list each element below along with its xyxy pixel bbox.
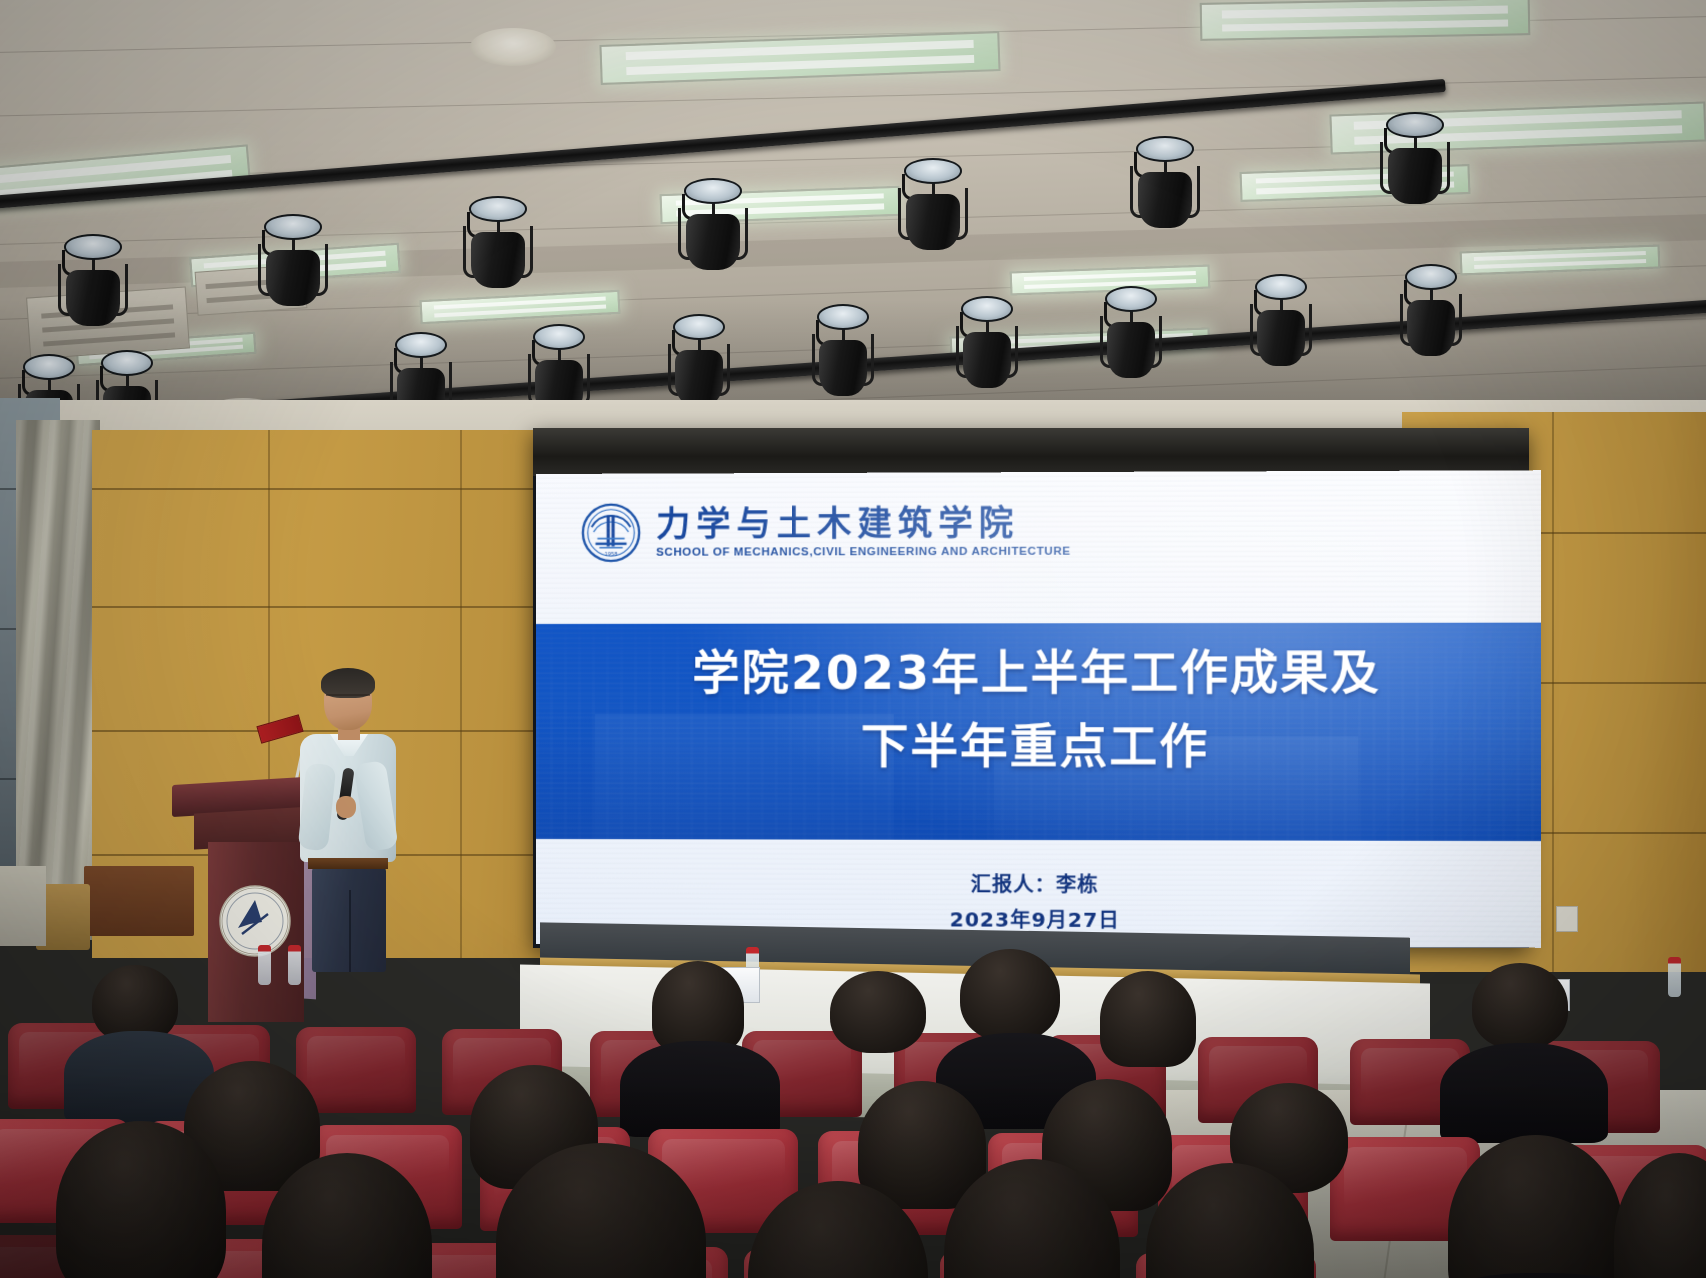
- title-line-2: 下半年重点工作: [536, 711, 1541, 785]
- ceiling-dome-light: [470, 28, 556, 66]
- presenter-belt: [308, 858, 388, 869]
- title-line-1: 学院2023年上半年工作成果及: [536, 637, 1541, 711]
- logo-text-block: 力学与土木建筑学院 SCHOOL OF MECHANICS,CIVIL ENGI…: [656, 505, 1071, 559]
- projection-screen: 1958 力学与土木建筑学院 SCHOOL OF MECHANICS,CIVIL…: [533, 428, 1529, 948]
- audience-shoulders: [1440, 1043, 1608, 1143]
- audience-head: [960, 949, 1060, 1041]
- audience-head: [1100, 971, 1196, 1067]
- water-bottle: [258, 945, 271, 985]
- slide-surface: 1958 力学与土木建筑学院 SCHOOL OF MECHANICS,CIVIL…: [536, 470, 1541, 948]
- presenter-glasses-icon: [326, 694, 370, 703]
- slide-header: 1958 力学与土木建筑学院 SCHOOL OF MECHANICS,CIVIL…: [536, 470, 1541, 624]
- institution-name-cn: 力学与土木建筑学院: [656, 505, 1071, 543]
- recessed-fluorescent-light: [1200, 0, 1531, 41]
- slide-title: 学院2023年上半年工作成果及 下半年重点工作: [536, 623, 1541, 785]
- water-bottle: [1668, 957, 1681, 997]
- school-crest-icon: 1958: [580, 502, 642, 564]
- window-curtain: [16, 420, 100, 940]
- water-bottle: [288, 945, 301, 985]
- screen-casing: [533, 428, 1529, 476]
- presenter-hand: [336, 796, 356, 818]
- slide-title-band: 学院2023年上半年工作成果及 下半年重点工作: [536, 623, 1541, 841]
- audience-head: [1472, 963, 1568, 1049]
- presenter-name: 汇报人：李栋: [536, 866, 1541, 904]
- audience-shoulders: [620, 1041, 780, 1137]
- auditorium-scene: 1958 力学与土木建筑学院 SCHOOL OF MECHANICS,CIVIL…: [0, 0, 1706, 1278]
- audience-head: [830, 971, 926, 1053]
- audience-head: [652, 961, 744, 1053]
- svg-text:1958: 1958: [605, 552, 618, 558]
- audience-seating: [0, 905, 1706, 1278]
- institution-name-en: SCHOOL OF MECHANICS,CIVIL ENGINEERING AN…: [656, 546, 1071, 559]
- school-logo: 1958 力学与土木建筑学院 SCHOOL OF MECHANICS,CIVIL…: [580, 500, 1071, 564]
